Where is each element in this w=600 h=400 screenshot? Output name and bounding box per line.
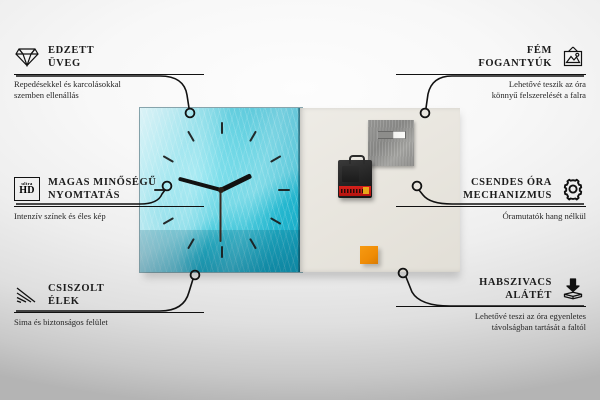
polished-edges-icon <box>14 283 40 307</box>
feature-tempered-glass: EDZETT ÜVEG Repedésekkel és karcolásokka… <box>14 44 204 101</box>
second-hand <box>220 190 222 242</box>
feature-title: EDZETT ÜVEG <box>48 44 94 70</box>
feature-foam-pad: HABSZIVACS ALÁTÉT Lehetővé teszi az óra … <box>396 276 586 333</box>
mechanism-body <box>342 166 359 182</box>
feature-rule <box>14 312 204 313</box>
feature-hd-print: ultra HD MAGAS MINŐSÉGŰ NYOMTATÁS Intenz… <box>14 176 204 222</box>
feature-metal-handles: FÉM FOGANTYÚK Lehetővé teszik az óra kö <box>396 44 586 101</box>
hanger-slot <box>377 131 406 139</box>
clock-mechanism <box>338 160 372 198</box>
gear-icon <box>560 177 586 201</box>
feature-rule <box>396 74 586 75</box>
metal-hanger-plate <box>368 120 414 166</box>
ultra-hd-icon: ultra HD <box>14 177 40 201</box>
feature-description: Intenzív színek és éles kép <box>14 211 204 222</box>
feature-title: HABSZIVACS ALÁTÉT <box>479 276 552 302</box>
feature-title: CSENDES ÓRA MECHANIZMUS <box>463 176 552 202</box>
down-arrow-pad-icon <box>560 277 586 301</box>
hands-center-cap <box>218 187 224 193</box>
feature-description: Lehetővé teszi az óra egyenletes távolsá… <box>396 311 586 333</box>
feature-polished-edges: CSISZOLT ÉLEK Sima és biztonságos felüle… <box>14 282 204 328</box>
ultra-hd-icon-main: HD <box>19 186 35 196</box>
feature-description: Lehetővé teszik az óra könnyű felszerelé… <box>396 79 586 101</box>
foam-spacer-pad <box>360 246 378 264</box>
label-mark <box>363 187 369 194</box>
feature-title: MAGAS MINŐSÉGŰ NYOMTATÁS <box>48 176 156 202</box>
mechanism-shaft <box>349 155 365 164</box>
wall-mount-picture-icon <box>560 45 586 69</box>
hour-hand <box>220 173 252 192</box>
label-barcode <box>341 189 363 193</box>
feature-description: Sima és biztonságos felület <box>14 317 204 328</box>
infographic-canvas: EDZETT ÜVEG Repedésekkel és karcolásokka… <box>0 0 600 400</box>
feature-title: FÉM FOGANTYÚK <box>478 44 552 70</box>
feature-rule <box>396 306 586 307</box>
feature-rule <box>14 206 204 207</box>
diamond-icon <box>14 45 40 69</box>
feature-description: Repedésekkel és karcolásokkal szemben el… <box>14 79 204 101</box>
feature-quiet-mechanism: CSENDES ÓRA MECHANIZMUS Óramutatók hang … <box>396 176 586 222</box>
feature-rule <box>14 74 204 75</box>
feature-title: CSISZOLT ÉLEK <box>48 282 104 308</box>
feature-rule <box>396 206 586 207</box>
mechanism-label <box>339 186 371 196</box>
feature-description: Óramutatók hang nélkül <box>396 211 586 222</box>
